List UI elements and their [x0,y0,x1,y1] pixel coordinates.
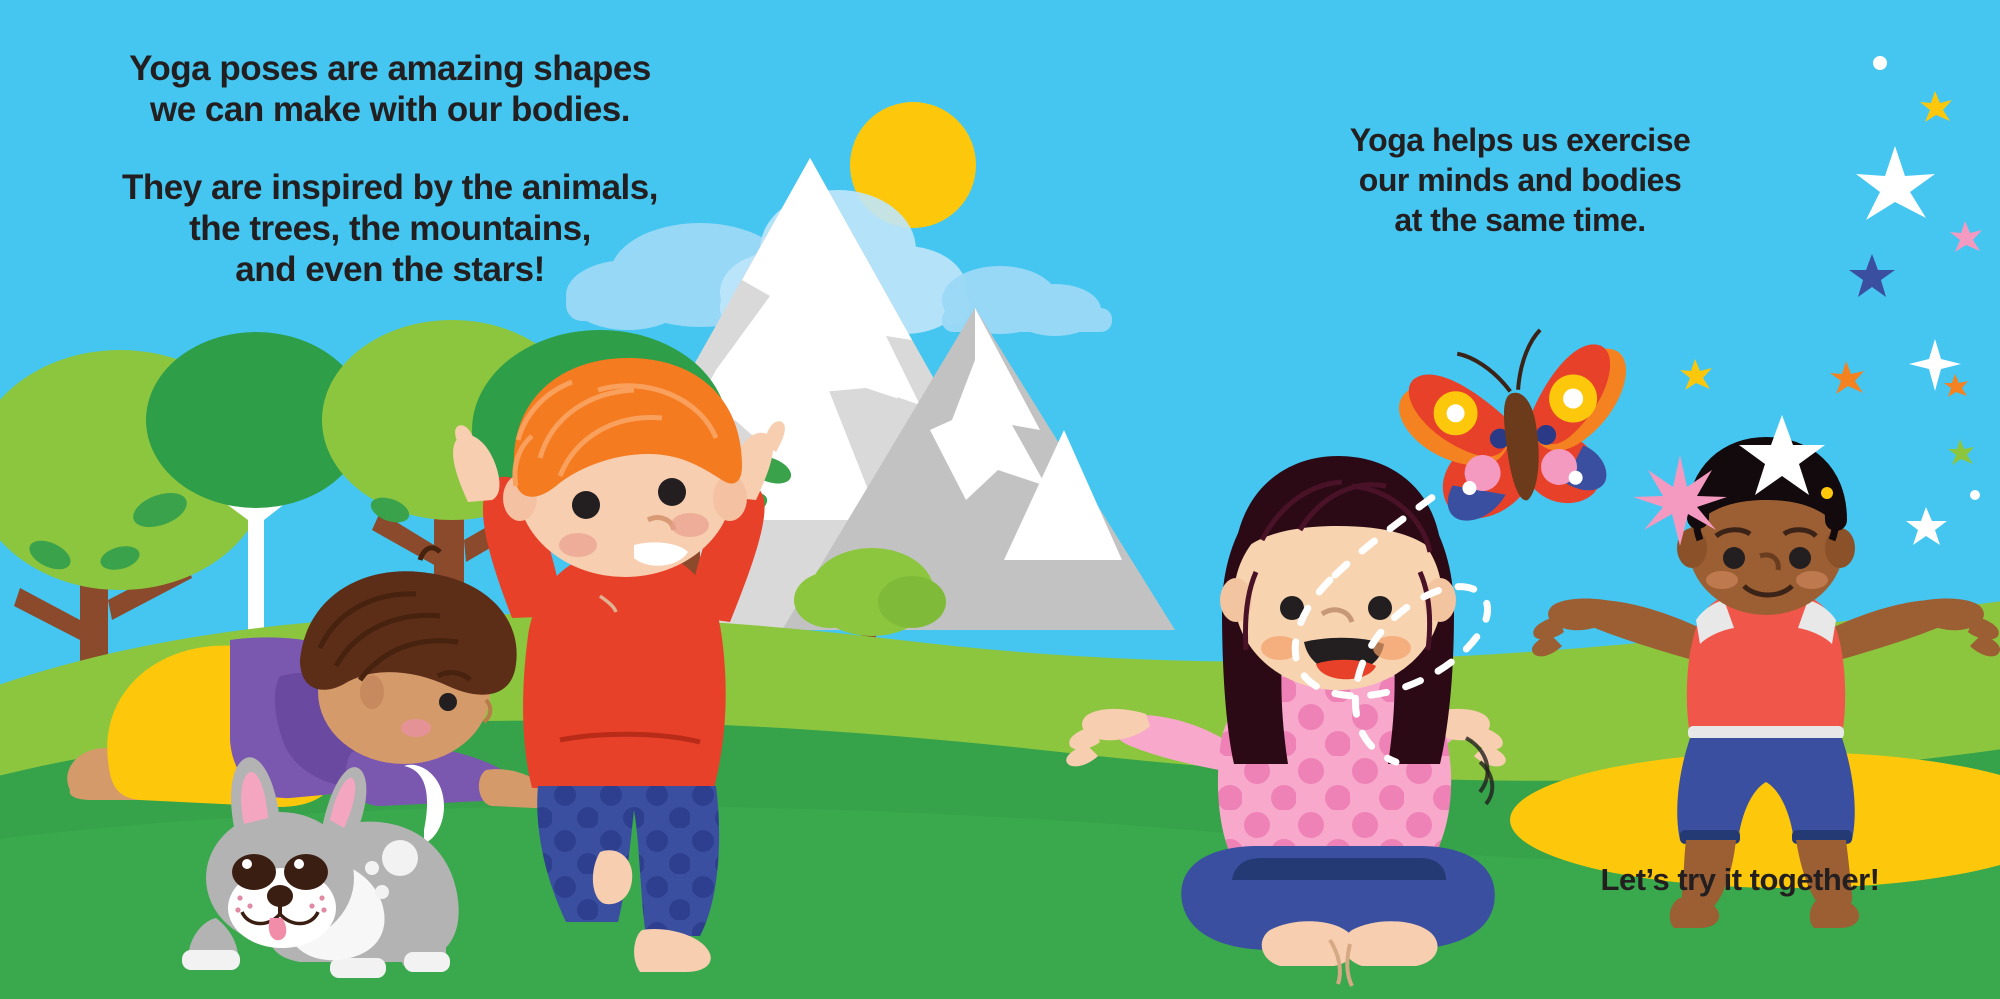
intro-p2-line2: the trees, the mountains, [0,208,780,249]
benefit-line3: at the same time. [1290,200,1750,240]
benefit-line2: our minds and bodies [1290,160,1750,200]
book-spread: Yoga poses are amazing shapes we can mak… [0,0,2000,999]
sparkle-dot-white [1873,56,1887,70]
benefit-text-block: Yoga helps us exercise our minds and bod… [1290,120,1750,240]
intro-paragraph-2: They are inspired by the animals, the tr… [0,167,780,291]
invitation-text: Let’s try it together! [1520,862,1960,898]
sparkle-teal-dot [1970,490,1980,500]
sparkle-yellow-dot [1821,487,1833,499]
intro-text-block: Yoga poses are amazing shapes we can mak… [0,48,780,290]
benefit-line1: Yoga helps us exercise [1290,120,1750,160]
intro-p1-line2: we can make with our bodies. [0,89,780,130]
intro-p2-line3: and even the stars! [0,249,780,290]
intro-paragraph-1: Yoga poses are amazing shapes we can mak… [0,48,780,131]
intro-p1-line1: Yoga poses are amazing shapes [0,48,780,89]
intro-p2-line1: They are inspired by the animals, [0,167,780,208]
